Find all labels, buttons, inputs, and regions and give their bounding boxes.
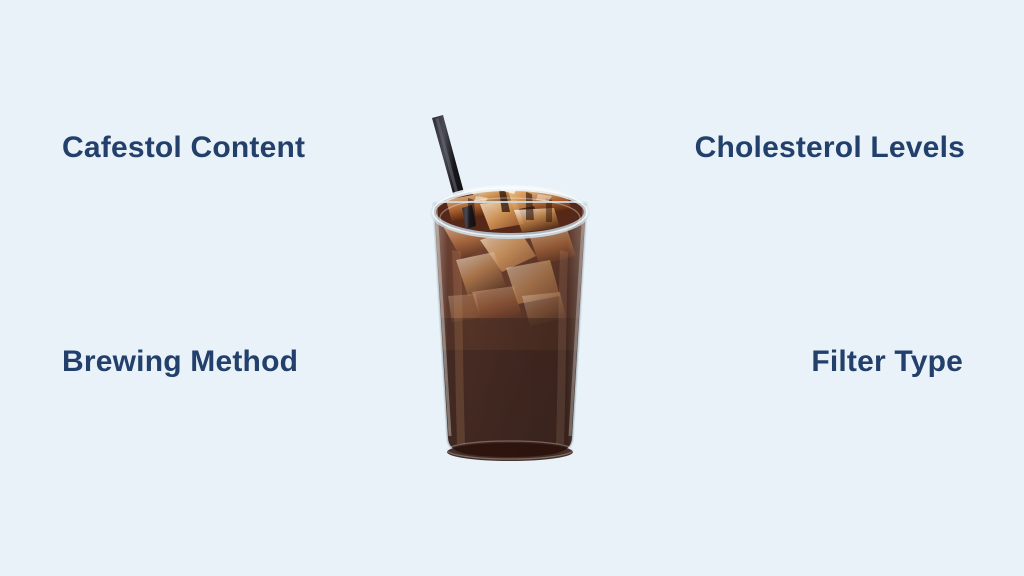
label-cholesterol-levels: Cholesterol Levels: [695, 133, 965, 163]
iced-coffee-glass-photo: [410, 100, 610, 470]
label-filter-type: Filter Type: [811, 347, 963, 377]
slide-canvas: Cafestol Content Cholesterol Levels Brew…: [0, 0, 1024, 576]
label-brewing-method: Brewing Method: [62, 347, 298, 377]
label-cafestol-content: Cafestol Content: [62, 133, 305, 163]
